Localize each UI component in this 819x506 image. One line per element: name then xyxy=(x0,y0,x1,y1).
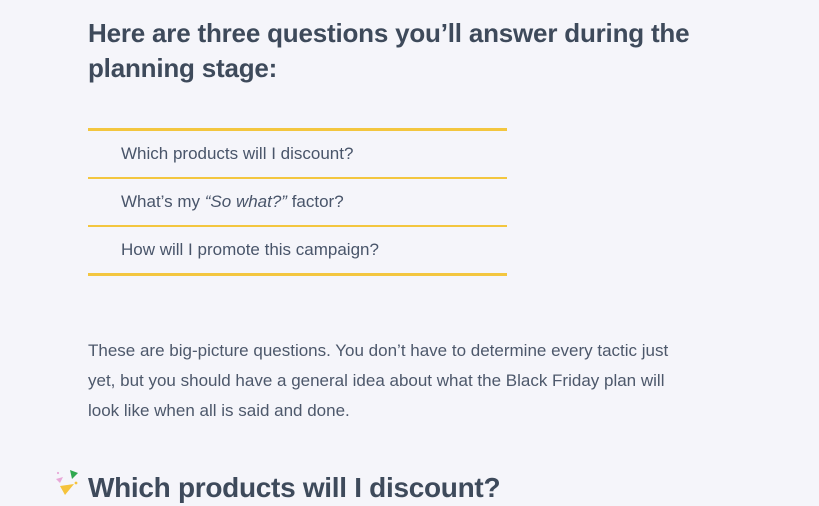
question-text-lead: What’s my xyxy=(121,192,205,211)
body-paragraph: These are big-picture questions. You don… xyxy=(88,336,688,426)
section-heading: Which products will I discount? xyxy=(86,470,500,506)
list-item: What’s my “So what?” factor? xyxy=(88,179,507,227)
question-text: How will I promote this campaign? xyxy=(121,240,379,259)
question-text-tail: factor? xyxy=(287,192,344,211)
question-list: Which products will I discount? What’s m… xyxy=(88,128,507,276)
section-heading-row: Which products will I discount? xyxy=(52,470,792,506)
list-item: Which products will I discount? xyxy=(88,131,507,179)
question-emphasis: “So what?” xyxy=(205,192,287,211)
confetti-icon xyxy=(52,464,86,498)
document-page: Here are three questions you’ll answer d… xyxy=(0,0,819,504)
intro-heading: Here are three questions you’ll answer d… xyxy=(88,16,708,86)
list-item: How will I promote this campaign? xyxy=(88,227,507,273)
question-text: Which products will I discount? xyxy=(121,144,353,163)
